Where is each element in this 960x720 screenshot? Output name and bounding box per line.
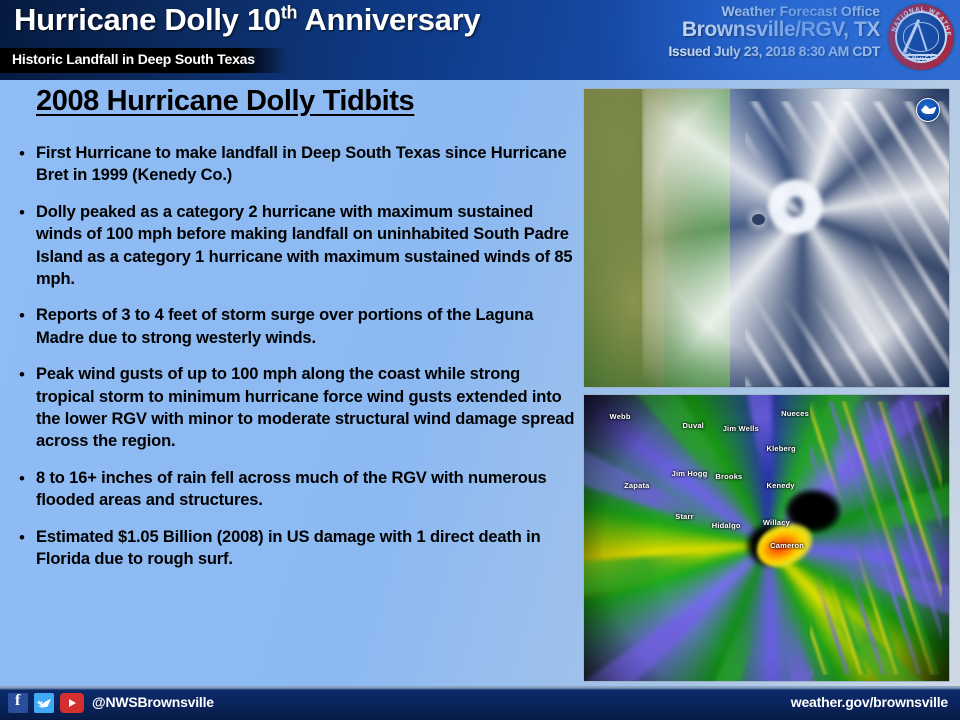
bullet-glyph: • — [8, 363, 36, 453]
county-label: Webb — [610, 412, 631, 421]
bullet-glyph: • — [8, 304, 36, 349]
page-title-ordinal: th — [281, 3, 297, 23]
list-item: • First Hurricane to make landfall in De… — [8, 142, 580, 187]
county-label: Willacy — [763, 518, 790, 527]
list-item-text: First Hurricane to make landfall in Deep… — [36, 142, 580, 187]
satellite-rainbands — [745, 101, 950, 387]
issued-timestamp: Issued July 23, 2018 8:30 AM CDT — [668, 43, 880, 59]
list-item-text: Dolly peaked as a category 2 hurricane w… — [36, 201, 580, 291]
svg-text:SERVICE: SERVICE — [901, 49, 937, 63]
bullet-glyph: • — [8, 467, 36, 512]
nws-seal-ring-text: NATIONAL WEATHER SERVICE — [888, 4, 954, 70]
list-item-text: Reports of 3 to 4 feet of storm surge ov… — [36, 304, 580, 349]
county-label: Kleberg — [767, 444, 796, 453]
county-label: Jim Wells — [723, 424, 759, 433]
facebook-icon[interactable] — [8, 693, 28, 713]
social-handle: @NWSBrownsville — [92, 694, 214, 710]
county-label: Jim Hogg — [672, 469, 708, 478]
bullet-glyph: • — [8, 142, 36, 187]
content-area: 2008 Hurricane Dolly Tidbits • First Hur… — [0, 80, 960, 686]
page-title-tail: Anniversary — [297, 2, 480, 37]
bullet-glyph: • — [8, 201, 36, 291]
subtitle-bar: Historic Landfall in Deep South Texas — [0, 48, 290, 73]
page-title: Hurricane Dolly 10th Anniversary — [14, 2, 480, 38]
list-item: • 8 to 16+ inches of rain fell across mu… — [8, 467, 580, 512]
county-label: Hidalgo — [712, 521, 741, 530]
county-label: Kenedy — [767, 481, 795, 490]
county-label: Starr — [675, 512, 694, 521]
text-column: 2008 Hurricane Dolly Tidbits • First Hur… — [0, 80, 580, 686]
county-label: Brooks — [715, 472, 742, 481]
infographic-page: Hurricane Dolly 10th Anniversary Histori… — [0, 0, 960, 720]
radar-county-labels: Webb Duval Jim Wells Nueces Kleberg Jim … — [584, 395, 949, 681]
list-item: • Estimated $1.05 Billion (2008) in US d… — [8, 526, 580, 571]
radar-image: Webb Duval Jim Wells Nueces Kleberg Jim … — [583, 394, 950, 682]
header-banner: Hurricane Dolly 10th Anniversary Histori… — [0, 0, 960, 80]
list-item-text: Estimated $1.05 Billion (2008) in US dam… — [36, 526, 580, 571]
office-label: Weather Forecast Office — [668, 3, 880, 19]
noaa-logo-icon — [916, 98, 940, 122]
section-title: 2008 Hurricane Dolly Tidbits — [36, 85, 414, 118]
county-label: Duval — [683, 421, 704, 430]
list-item: • Reports of 3 to 4 feet of storm surge … — [8, 304, 580, 349]
office-name: Brownsville/RGV, TX — [668, 18, 880, 42]
county-label: Zapata — [624, 481, 649, 490]
list-item-text: Peak wind gusts of up to 100 mph along t… — [36, 363, 580, 453]
bullet-glyph: • — [8, 526, 36, 571]
county-label: Nueces — [781, 409, 809, 418]
page-title-main: Hurricane Dolly 10 — [14, 2, 281, 37]
website-url[interactable]: weather.gov/brownsville — [791, 694, 948, 710]
subtitle-text: Historic Landfall in Deep South Texas — [12, 51, 255, 67]
svg-text:NATIONAL WEATHER: NATIONAL WEATHER — [888, 4, 952, 37]
tidbits-list: • First Hurricane to make landfall in De… — [8, 142, 580, 585]
county-label: Cameron — [770, 541, 804, 550]
list-item: • Dolly peaked as a category 2 hurricane… — [8, 201, 580, 291]
office-block: Weather Forecast Office Brownsville/RGV,… — [668, 3, 880, 59]
list-item: • Peak wind gusts of up to 100 mph along… — [8, 363, 580, 453]
list-item-text: 8 to 16+ inches of rain fell across much… — [36, 467, 580, 512]
satellite-storm-eye — [752, 214, 765, 225]
nws-seal-icon: NATIONAL WEATHER SERVICE — [888, 4, 954, 70]
satellite-image — [583, 88, 950, 388]
youtube-icon[interactable] — [60, 693, 84, 713]
twitter-icon[interactable] — [34, 693, 54, 713]
footer-bar: @NWSBrownsville weather.gov/brownsville — [0, 686, 960, 720]
